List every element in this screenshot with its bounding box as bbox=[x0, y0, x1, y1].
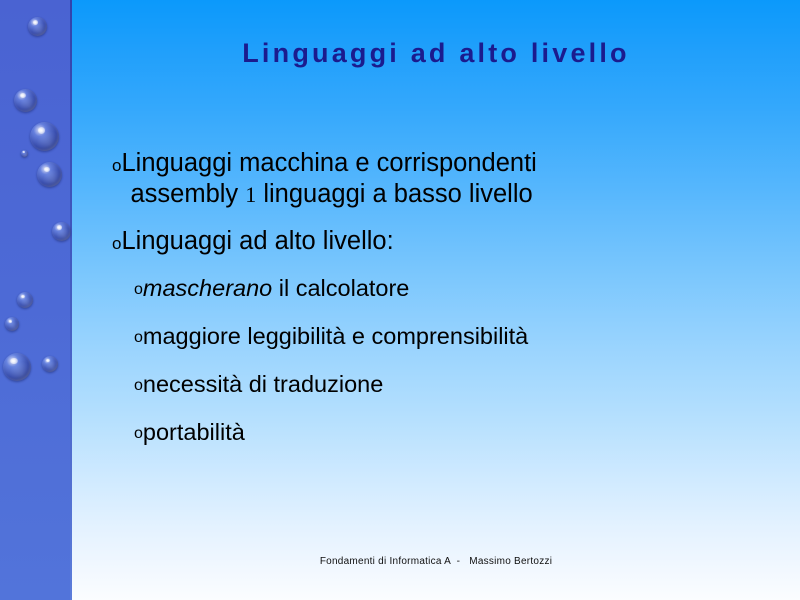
bullet-item: o Linguaggi ad alto livello: bbox=[112, 226, 732, 257]
bullet-text-plain: il calcolatore bbox=[272, 275, 409, 301]
bullet-text-line2: assembly 1 linguaggi a basso livello bbox=[121, 179, 732, 210]
bullet-marker-icon: o bbox=[134, 321, 143, 346]
sidebar-decoration-band bbox=[0, 0, 72, 600]
water-droplet-icon bbox=[3, 353, 31, 381]
water-droplet-icon bbox=[5, 317, 19, 331]
arrow-symbol-glyph: 1 bbox=[245, 182, 256, 207]
water-droplet-icon bbox=[17, 292, 33, 308]
water-droplet-icon bbox=[42, 356, 58, 372]
bullet-text: Linguaggi macchina e corrispondentiassem… bbox=[121, 148, 732, 210]
bullet-text-emphasis: mascherano bbox=[143, 275, 272, 301]
bullet-item: o maggiore leggibilità e comprensibilità bbox=[134, 321, 732, 351]
bullet-item: o mascherano il calcolatore bbox=[134, 273, 732, 303]
water-droplet-icon bbox=[37, 162, 62, 187]
slide-body-content: o Linguaggi macchina e corrispondentiass… bbox=[112, 148, 732, 465]
bullet-marker-icon: o bbox=[112, 226, 121, 252]
bullet-marker-icon: o bbox=[112, 148, 121, 174]
water-droplet-icon bbox=[21, 150, 28, 157]
bullet-text: necessità di traduzione bbox=[143, 369, 732, 399]
bullet-text-line2-post: linguaggi a basso livello bbox=[256, 180, 532, 208]
sidebar-divider bbox=[70, 0, 72, 600]
water-droplet-icon bbox=[28, 17, 47, 36]
slide-title: Linguaggi ad alto livello bbox=[72, 36, 800, 70]
bullet-marker-icon: o bbox=[134, 369, 143, 394]
bullet-text: maggiore leggibilità e comprensibilità bbox=[143, 321, 732, 351]
bullet-item: o portabilità bbox=[134, 417, 732, 447]
bullet-text: mascherano il calcolatore bbox=[143, 273, 732, 303]
bullet-text-line1: Linguaggi macchina e corrispondenti bbox=[121, 149, 536, 177]
bullet-marker-icon: o bbox=[134, 273, 143, 298]
water-droplet-icon bbox=[30, 122, 59, 151]
bullet-text: Linguaggi ad alto livello: bbox=[121, 226, 732, 257]
bullet-item: o necessità di traduzione bbox=[134, 369, 732, 399]
bullet-marker-icon: o bbox=[134, 417, 143, 442]
bullet-item: o Linguaggi macchina e corrispondentiass… bbox=[112, 148, 732, 210]
slide-canvas: Linguaggi ad alto livello o Linguaggi ma… bbox=[0, 0, 800, 600]
bullet-text: portabilità bbox=[143, 417, 732, 447]
bullet-text-line2-pre: assembly bbox=[130, 180, 245, 208]
slide-footer: Fondamenti di Informatica A - Massimo Be… bbox=[72, 556, 800, 567]
water-droplet-icon bbox=[52, 222, 71, 241]
water-droplet-icon bbox=[14, 89, 37, 112]
